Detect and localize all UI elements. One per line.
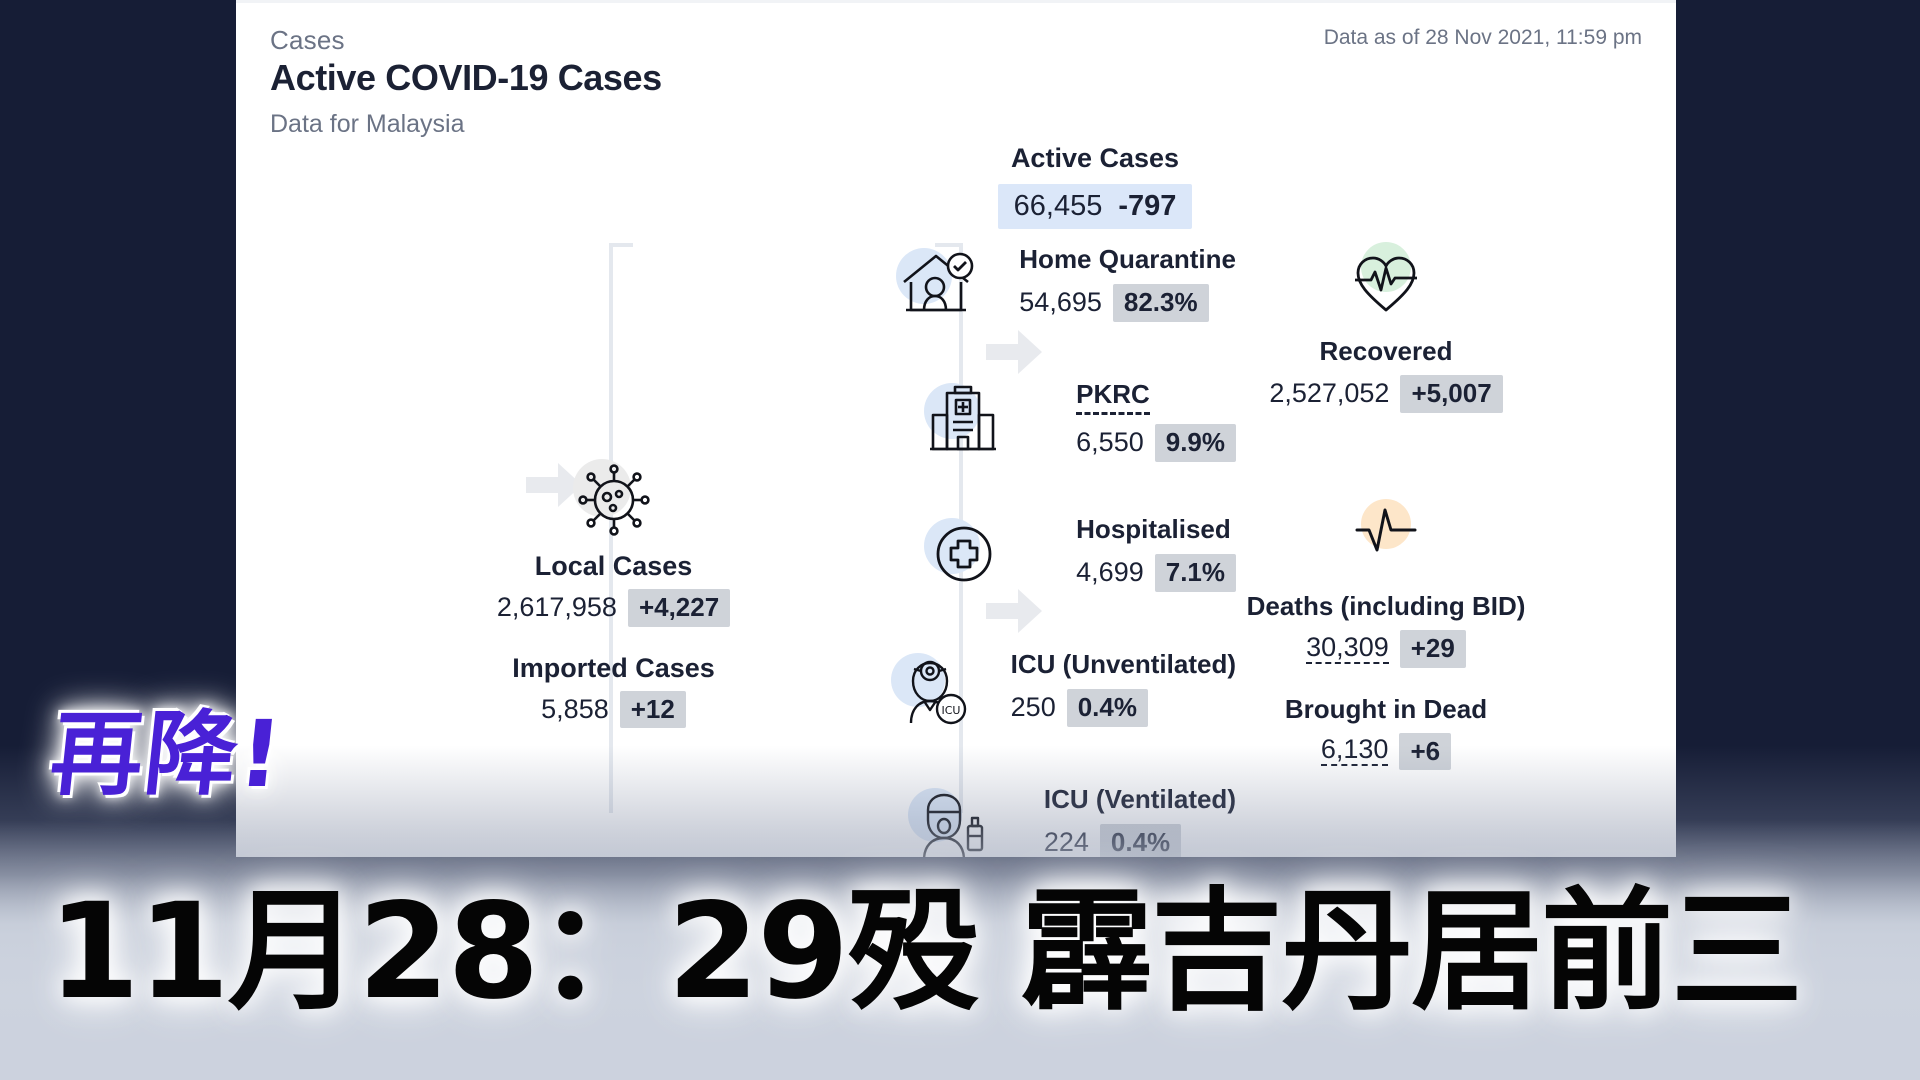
icu-unventilated-value: 250 — [1011, 692, 1056, 723]
local-cases-label: Local Cases — [441, 551, 786, 582]
hospitalised-row: 4,699 7.1% — [1076, 554, 1236, 592]
deaths-delta: +29 — [1400, 630, 1466, 668]
imported-cases-value: 5,858 — [541, 694, 609, 725]
local-cases-value: 2,617,958 — [497, 592, 617, 623]
brought-in-dead-value[interactable]: 6,130 — [1321, 736, 1389, 766]
breakdown-item-pkrc: PKRC 6,550 9.9% — [876, 375, 1236, 471]
deaths-label: Deaths (including BID) — [1236, 591, 1536, 622]
deaths-row: 30,309 +29 — [1236, 630, 1536, 668]
active-cases-label: Active Cases — [945, 143, 1245, 174]
virus-icon — [569, 455, 659, 545]
hospital-building-icon — [922, 375, 1012, 465]
recovered-label: Recovered — [1236, 336, 1536, 367]
brought-in-dead-label: Brought in Dead — [1236, 694, 1536, 725]
home-quarantine-icon — [894, 240, 984, 330]
caption-headline: 11月28：29殁 霹吉丹居前三 — [48, 845, 1801, 1036]
icu-unventilated-label: ICU (Unventilated) — [1011, 649, 1236, 680]
connector-stub-left — [609, 243, 633, 247]
pkrc-row: 6,550 9.9% — [1076, 424, 1236, 462]
heart-pulse-icon — [1341, 240, 1431, 330]
home-quarantine-value: 54,695 — [1019, 287, 1102, 318]
caption-small: 再降! — [45, 680, 291, 813]
page-subtitle: Data for Malaysia — [270, 110, 465, 139]
breakdown-item-icu-unventilated: ICU ICU (Unventilated) 250 0.4% — [876, 645, 1236, 741]
imported-cases-label: Imported Cases — [441, 653, 786, 684]
imported-cases-row: 5,858 +12 — [441, 691, 786, 729]
brought-in-dead-row: 6,130 +6 — [1236, 733, 1536, 771]
breakdown-item-hospitalised: Hospitalised 4,699 7.1% — [876, 510, 1236, 606]
local-cases-row: 2,617,958 +4,227 — [441, 589, 786, 627]
breadcrumb[interactable]: Cases — [270, 25, 345, 56]
dashboard-card: Cases Active COVID-19 Cases Data for Mal… — [236, 0, 1676, 857]
medical-cross-icon — [922, 510, 1012, 600]
home-quarantine-row: 54,695 82.3% — [1019, 284, 1236, 322]
active-cases-value: 66,455 — [1014, 190, 1103, 223]
deaths-block: Deaths (including BID) 30,309 +29 Brough… — [1236, 495, 1536, 770]
home-quarantine-label: Home Quarantine — [1019, 244, 1236, 275]
hospitalised-value: 4,699 — [1076, 557, 1144, 588]
active-cases-badge: 66,455 -797 — [998, 184, 1193, 229]
active-cases-delta: -797 — [1118, 190, 1176, 223]
active-cases-block: Active Cases 66,455 -797 — [945, 143, 1245, 229]
icu-doctor-icon: ICU — [889, 645, 979, 735]
hospitalised-pct: 7.1% — [1155, 554, 1236, 592]
data-as-of-label: Data as of 28 Nov 2021, 11:59 pm — [1324, 26, 1642, 50]
breakdown-item-home-quarantine: Home Quarantine 54,695 82.3% — [876, 240, 1236, 336]
svg-text:ICU: ICU — [942, 704, 961, 717]
cases-source-column: Local Cases 2,617,958 +4,227 Imported Ca… — [441, 455, 786, 728]
recovered-delta: +5,007 — [1400, 375, 1502, 413]
icu-ventilated-label: ICU (Ventilated) — [1044, 784, 1236, 815]
active-breakdown-column: Home Quarantine 54,695 82.3% — [876, 240, 1236, 857]
icu-unventilated-pct: 0.4% — [1067, 689, 1148, 727]
home-quarantine-pct: 82.3% — [1113, 284, 1209, 322]
imported-cases-delta: +12 — [620, 691, 686, 729]
icu-unventilated-row: 250 0.4% — [1011, 689, 1236, 727]
card-top-divider — [236, 0, 1676, 3]
brought-in-dead-delta: +6 — [1399, 733, 1451, 771]
hospitalised-label: Hospitalised — [1076, 514, 1236, 545]
pkrc-label[interactable]: PKRC — [1076, 379, 1150, 415]
pulse-line-icon — [1341, 495, 1431, 585]
recovered-value: 2,527,052 — [1269, 378, 1389, 409]
recovered-row: 2,527,052 +5,007 — [1236, 375, 1536, 413]
pkrc-pct: 9.9% — [1155, 424, 1236, 462]
deaths-value[interactable]: 30,309 — [1306, 634, 1389, 664]
page-title: Active COVID-19 Cases — [270, 57, 662, 99]
pkrc-value: 6,550 — [1076, 427, 1144, 458]
recovered-block: Recovered 2,527,052 +5,007 — [1236, 240, 1536, 413]
local-cases-delta: +4,227 — [628, 589, 730, 627]
